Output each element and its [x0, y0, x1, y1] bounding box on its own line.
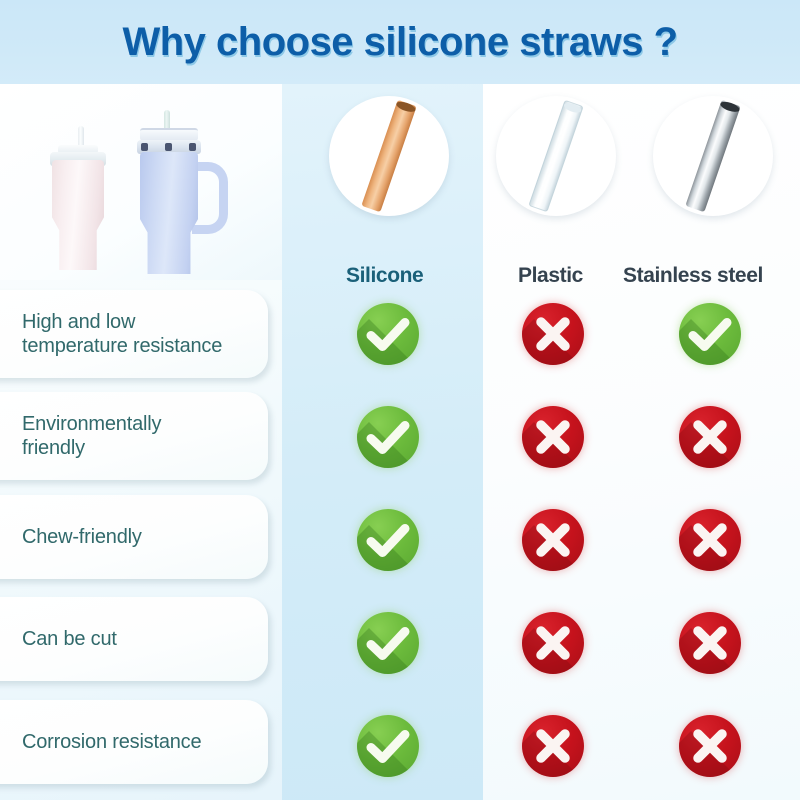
stainless-steel-straw-photo	[653, 96, 773, 216]
feature-label-row-3-line-1: Chew-friendly	[22, 525, 142, 549]
column-header-stainless-steel: Stainless steel	[623, 264, 763, 288]
feature-card-row-2: Environmentally friendly	[0, 392, 268, 480]
feature-card-row-3: Chew-friendly	[0, 495, 268, 579]
cross-icon-plastic-row-3	[522, 509, 584, 571]
check-icon-silicone-row-3	[357, 509, 419, 571]
pink-tumbler-body	[52, 160, 104, 270]
feature-label-row-4-line-1: Can be cut	[22, 627, 117, 651]
cross-icon-steel-row-5	[679, 715, 741, 777]
check-icon-silicone-row-1	[357, 303, 419, 365]
feature-label-row-1: High and low temperature resistance	[0, 310, 236, 359]
blue-tumbler-clip-mid	[165, 143, 172, 151]
feature-label-row-1-line-1: High and low	[22, 310, 222, 334]
title-banner: Why choose silicone straws ?	[0, 0, 800, 84]
cross-icon-steel-row-4	[679, 612, 741, 674]
silicone-straw-tube-icon	[361, 100, 416, 212]
blue-tumbler-body	[140, 152, 198, 274]
cross-icon-plastic-row-1	[522, 303, 584, 365]
blue-tumbler-clip-right	[189, 143, 196, 151]
feature-card-row-5: Corrosion resistance	[0, 700, 268, 784]
pink-tumbler-image	[48, 126, 108, 270]
feature-card-row-4: Can be cut	[0, 597, 268, 681]
cross-icon-plastic-row-5	[522, 715, 584, 777]
blue-tumbler-clip-left	[141, 143, 148, 151]
check-icon-steel-row-1	[679, 303, 741, 365]
feature-label-row-5-line-1: Corrosion resistance	[22, 730, 201, 754]
feature-label-row-4: Can be cut	[0, 627, 131, 651]
check-icon-silicone-row-5	[357, 715, 419, 777]
column-header-plastic: Plastic	[518, 264, 583, 288]
page-title: Why choose silicone straws ?	[122, 20, 677, 65]
plastic-straw-tube-icon	[528, 100, 583, 212]
silicone-straw-comparison-infographic: Why choose silicone straws ? Silicone	[0, 0, 800, 800]
feature-card-row-1: High and low temperature resistance	[0, 290, 268, 378]
feature-label-row-2-line-2: friendly	[22, 436, 161, 460]
cross-icon-steel-row-3	[679, 509, 741, 571]
feature-label-row-1-line-2: temperature resistance	[22, 334, 222, 358]
stainless-steel-straw-tube-icon	[685, 100, 740, 212]
tumbler-product-photos	[0, 84, 282, 280]
cross-icon-plastic-row-2	[522, 406, 584, 468]
blue-tumbler-image	[132, 110, 228, 274]
feature-label-row-5: Corrosion resistance	[0, 730, 215, 754]
plastic-straw-photo	[496, 96, 616, 216]
column-header-silicone: Silicone	[346, 264, 423, 288]
silicone-straw-photo	[329, 96, 449, 216]
cross-icon-plastic-row-4	[522, 612, 584, 674]
check-icon-silicone-row-4	[357, 612, 419, 674]
feature-label-row-2: Environmentally friendly	[0, 412, 175, 461]
feature-label-row-3: Chew-friendly	[0, 525, 156, 549]
cross-icon-steel-row-2	[679, 406, 741, 468]
feature-label-row-2-line-1: Environmentally	[22, 412, 161, 436]
check-icon-silicone-row-2	[357, 406, 419, 468]
